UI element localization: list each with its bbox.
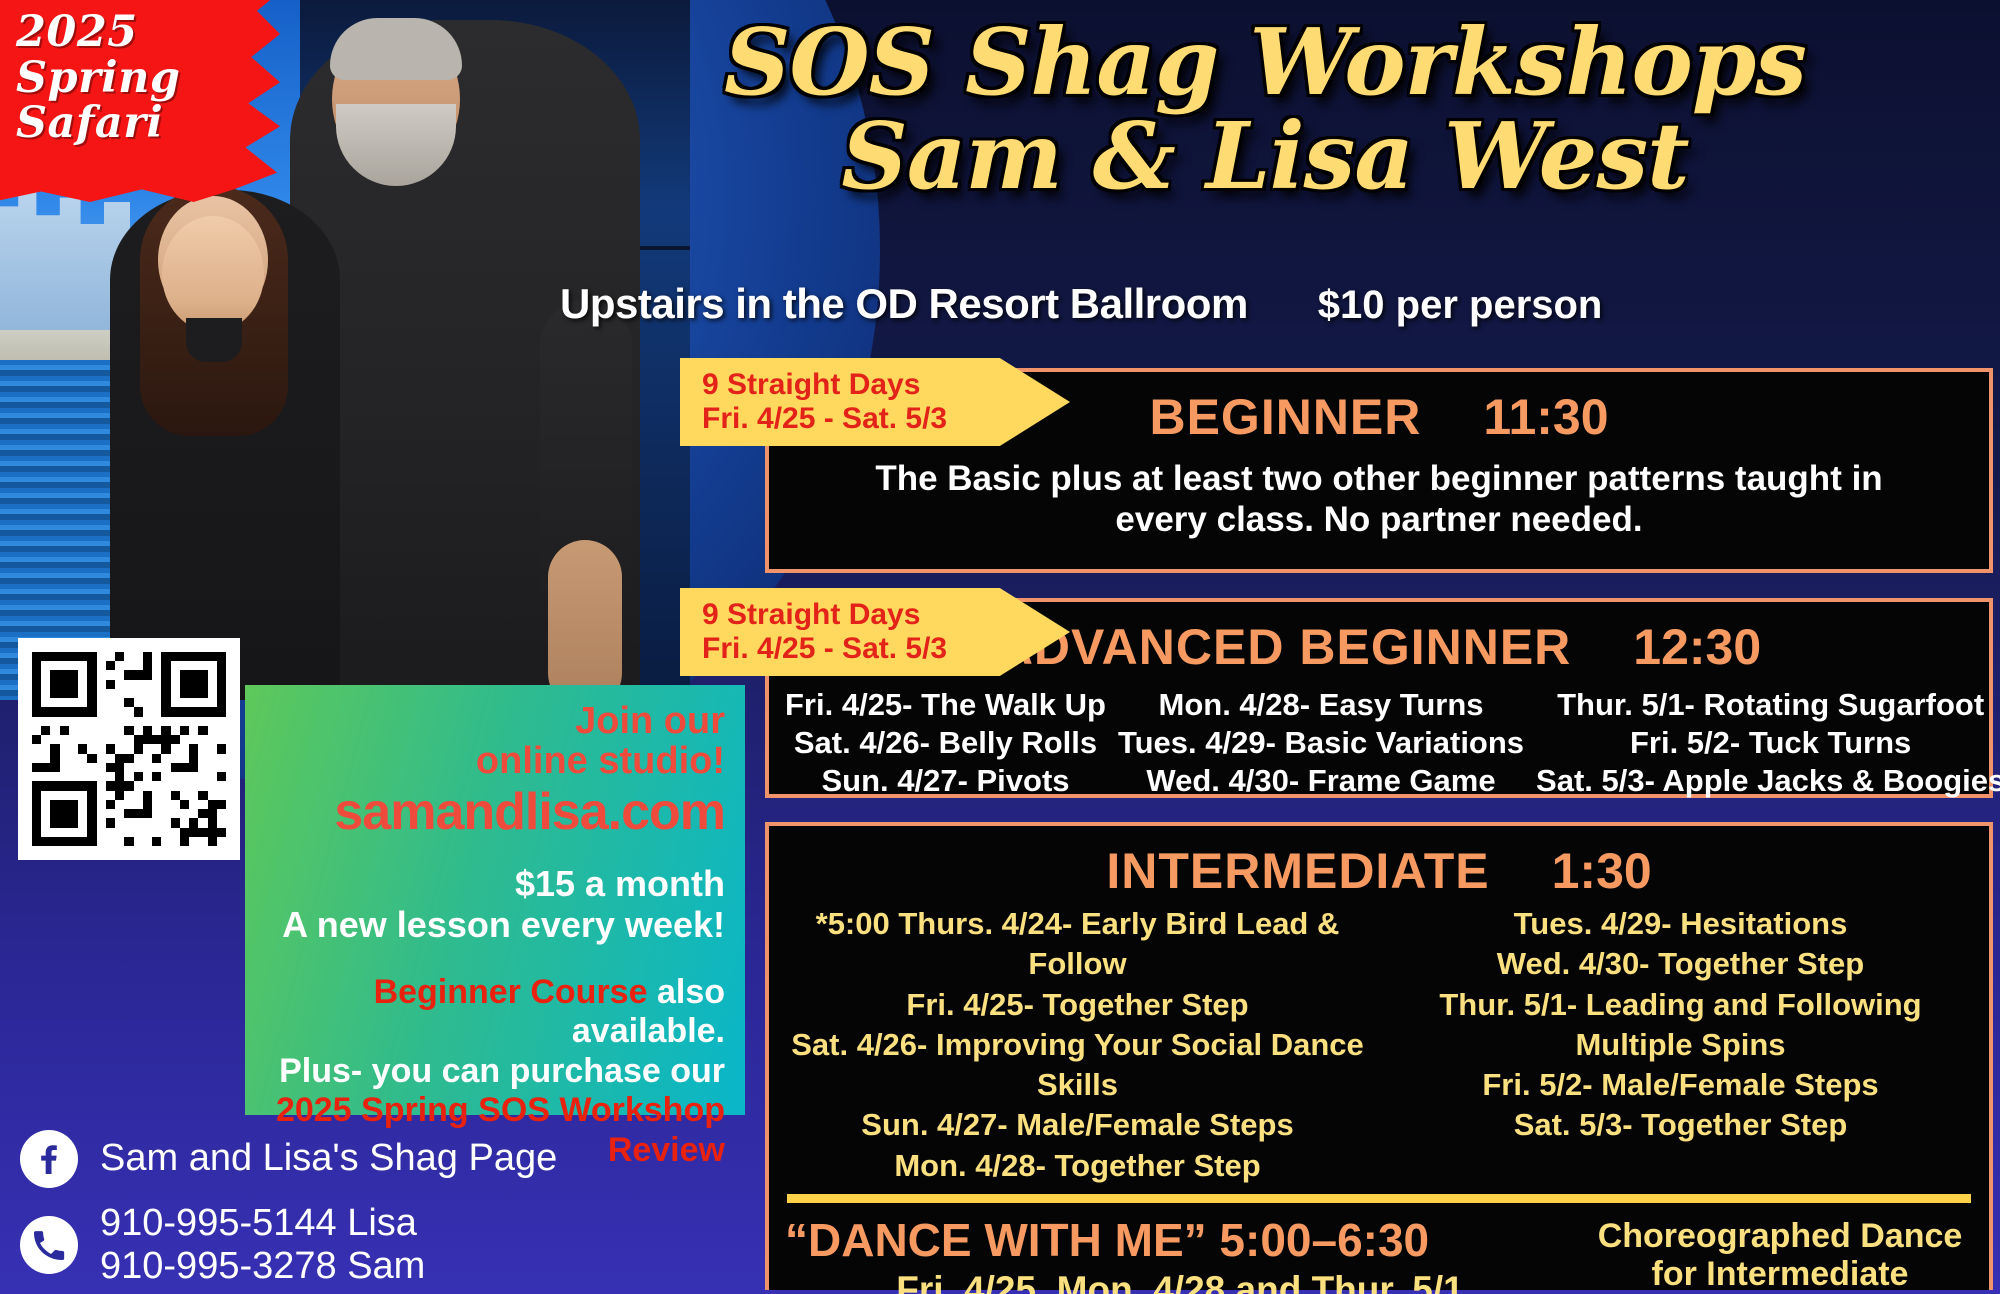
phone-sam: 910-995-3278 Sam	[100, 1245, 425, 1288]
title-line-2: Sam & Lisa West	[540, 110, 1990, 204]
promo-price-line-1: $15 a month	[265, 863, 725, 904]
phone-icon	[20, 1216, 78, 1274]
list-item: Thur. 5/1- Rotating Sugarfoot	[1557, 686, 1984, 724]
beginner-description: The Basic plus at least two other beginn…	[769, 446, 1989, 541]
list-item: Tues. 4/29- Basic Variations	[1118, 724, 1524, 762]
phone-numbers: 910-995-5144 Lisa 910-995-3278 Sam	[100, 1202, 425, 1289]
photo-lisa-face	[162, 216, 264, 332]
advanced-beginner-days-tag: 9 Straight Days Fri. 4/25 - Sat. 5/3	[680, 588, 1070, 676]
dance-with-me-dates: Fri. 4/25, Mon. 4/28 and Thur. 5/1	[785, 1269, 1575, 1294]
dance-with-me-section: “DANCE WITH ME” 5:00–6:30 Fri. 4/25, Mon…	[769, 1203, 1989, 1294]
list-item: Fri. 5/2- Male/Female Steps	[1388, 1065, 1973, 1105]
beginner-title: BEGINNER	[1149, 388, 1421, 446]
list-item: Mon. 4/28- Easy Turns	[1159, 686, 1484, 724]
advanced-tag-line-2: Fri. 4/25 - Sat. 5/3	[702, 632, 1070, 666]
page-title: SOS Shag Workshops Sam & Lisa West	[540, 16, 1990, 204]
advanced-schedule-column-1: Fri. 4/25- The Walk Up Sat. 4/26- Belly …	[785, 686, 1106, 799]
subtitle-row: Upstairs in the OD Resort Ballroom $10 p…	[560, 280, 1980, 328]
phone-row[interactable]: 910-995-5144 Lisa 910-995-3278 Sam	[20, 1202, 740, 1289]
list-item: Sat. 5/3- Together Step	[1388, 1105, 1973, 1145]
list-item: *5:00 Thurs. 4/24- Early Bird Lead & Fol…	[785, 904, 1370, 985]
list-item: Fri. 4/25- The Walk Up	[785, 686, 1106, 724]
promo-course-red: Beginner Course	[374, 973, 648, 1011]
online-studio-promo: Join our online studio! samandlisa.com $…	[245, 685, 745, 1115]
badge-line-1: 2025	[16, 10, 241, 56]
facebook-icon	[20, 1130, 78, 1188]
list-item: Wed. 4/30- Frame Game	[1146, 762, 1495, 800]
facebook-row[interactable]: Sam and Lisa's Shag Page	[20, 1130, 740, 1188]
intermediate-title: INTERMEDIATE	[1106, 842, 1489, 900]
badge-line-3: Safari	[16, 101, 241, 147]
intermediate-section: INTERMEDIATE 1:30 *5:00 Thurs. 4/24- Ear…	[765, 822, 1993, 1290]
promo-website-url[interactable]: samandlisa.com	[265, 784, 725, 841]
intermediate-schedule-column-1: *5:00 Thurs. 4/24- Early Bird Lead & Fol…	[785, 904, 1370, 1186]
beginner-tag-line-2: Fri. 4/25 - Sat. 5/3	[702, 402, 1070, 436]
beginner-tag-line-1: 9 Straight Days	[702, 368, 1070, 402]
list-item: Thur. 5/1- Leading and Following Multipl…	[1388, 985, 1973, 1066]
intermediate-header: INTERMEDIATE 1:30	[769, 842, 1989, 900]
advanced-beginner-time: 12:30	[1633, 618, 1761, 676]
contact-block: Sam and Lisa's Shag Page 910-995-5144 Li…	[20, 1130, 740, 1294]
photo-sam-hair	[330, 18, 462, 80]
advanced-beginner-title: ADVANCED BEGINNER	[997, 618, 1571, 676]
advanced-schedule-column-3: Thur. 5/1- Rotating Sugarfoot Fri. 5/2- …	[1536, 686, 2000, 799]
dance-with-me-sidenote: Choreographed Dance for Intermediate Dan…	[1585, 1213, 1975, 1294]
promo-join-line-1: Join our	[265, 701, 725, 741]
badge-line-2: Spring	[16, 56, 241, 102]
dance-with-me-title: “DANCE WITH ME” 5:00–6:30	[785, 1213, 1575, 1267]
venue-label: Upstairs in the OD Resort Ballroom	[560, 280, 1248, 328]
promo-plus-line: Plus- you can purchase our	[265, 1052, 725, 1091]
list-item: Wed. 4/30- Together Step	[1388, 944, 1973, 984]
list-item: Tues. 4/29- Hesitations	[1388, 904, 1973, 944]
beginner-days-tag: 9 Straight Days Fri. 4/25 - Sat. 5/3	[680, 358, 1070, 446]
sidenote-line-2: for Intermediate Dancers	[1585, 1255, 1975, 1294]
promo-course-line: Beginner Course also available.	[265, 973, 725, 1052]
advanced-beginner-schedule: Fri. 4/25- The Walk Up Sat. 4/26- Belly …	[769, 676, 1989, 799]
phone-lisa: 910-995-5144 Lisa	[100, 1202, 425, 1245]
list-item: Sat. 4/26- Improving Your Social Dance S…	[785, 1025, 1370, 1106]
promo-join-line-2: online studio!	[265, 741, 725, 781]
price-label: $10 per person	[1318, 283, 1603, 328]
beginner-time: 11:30	[1483, 388, 1608, 446]
list-item: Sun. 4/27- Pivots	[821, 762, 1069, 800]
photo-lisa-neck	[186, 318, 242, 362]
dance-with-me-main: “DANCE WITH ME” 5:00–6:30 Fri. 4/25, Mon…	[785, 1213, 1575, 1294]
intermediate-schedule: *5:00 Thurs. 4/24- Early Bird Lead & Fol…	[769, 900, 1989, 1186]
sidenote-line-1: Choreographed Dance	[1585, 1217, 1975, 1255]
list-item: Sat. 5/3- Apple Jacks & Boogies	[1536, 762, 2000, 800]
list-item: Mon. 4/28- Together Step	[785, 1146, 1370, 1186]
title-line-1: SOS Shag Workshops	[540, 16, 1990, 110]
list-item: Sun. 4/27- Male/Female Steps	[785, 1105, 1370, 1145]
list-item: Fri. 4/25- Together Step	[785, 985, 1370, 1025]
divider	[787, 1194, 1971, 1203]
qr-code[interactable]	[18, 638, 240, 860]
promo-price-line-2: A new lesson every week!	[265, 904, 725, 945]
advanced-tag-line-1: 9 Straight Days	[702, 598, 1070, 632]
intermediate-time: 1:30	[1552, 842, 1652, 900]
flyer-poster: 2025 Spring Safari SOS Shag Workshops Sa…	[0, 0, 2000, 1294]
spring-safari-label: 2025 Spring Safari	[16, 10, 241, 147]
facebook-page-name: Sam and Lisa's Shag Page	[100, 1137, 557, 1180]
intermediate-schedule-column-2: Tues. 4/29- Hesitations Wed. 4/30- Toget…	[1388, 904, 1973, 1186]
qr-code-grid	[32, 652, 226, 846]
list-item: Fri. 5/2- Tuck Turns	[1630, 724, 1911, 762]
list-item: Sat. 4/26- Belly Rolls	[794, 724, 1097, 762]
advanced-schedule-column-2: Mon. 4/28- Easy Turns Tues. 4/29- Basic …	[1118, 686, 1524, 799]
